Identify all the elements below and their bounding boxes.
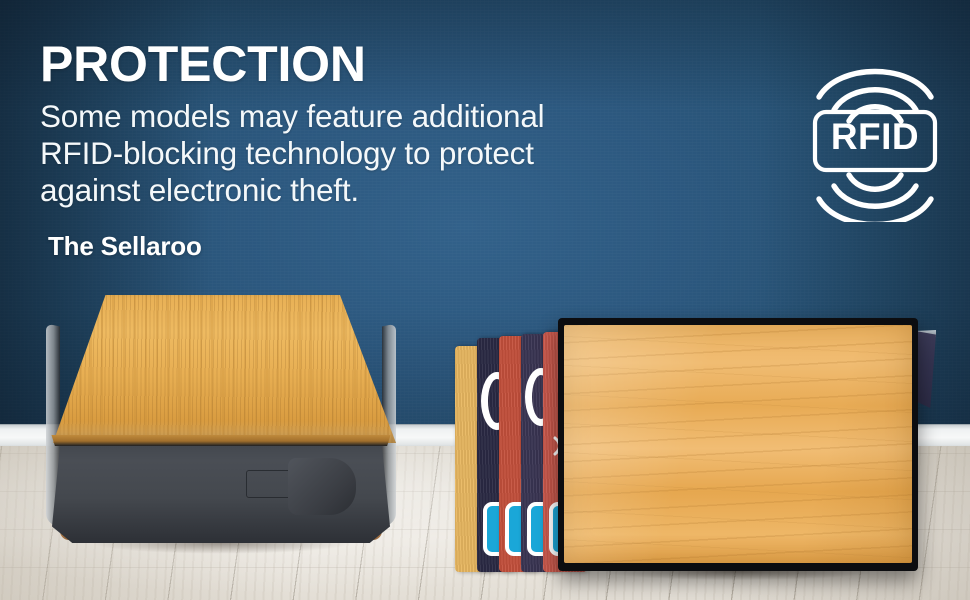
right-wallet-sheen (564, 325, 912, 563)
left-wallet-top-lip (48, 435, 394, 446)
product-bamboo-card-holder (46, 295, 396, 553)
rfid-badge: RFID (805, 50, 945, 222)
brand-name: The Sellaroo (48, 231, 770, 262)
body-copy-line-1: Some models may feature additional (40, 98, 770, 135)
left-wallet-thumb-slider (288, 458, 356, 515)
right-wallet-frame (558, 318, 918, 571)
page-title: PROTECTION (40, 38, 770, 90)
body-copy-line-3: against electronic theft. (40, 172, 770, 209)
body-copy-line-2: RFID-blocking technology to protect (40, 135, 770, 172)
product-wood-card-holder (558, 318, 918, 571)
right-wallet-wood-face (564, 325, 912, 563)
left-wallet-bamboo-top (46, 295, 396, 443)
promo-banner: PROTECTION Some models may feature addit… (0, 0, 970, 600)
rfid-signal-waves-icon (805, 50, 945, 222)
body-copy: Some models may feature additional RFID-… (40, 98, 770, 209)
rfid-badge-outline (815, 112, 935, 170)
copy-block: PROTECTION Some models may feature addit… (40, 38, 770, 262)
